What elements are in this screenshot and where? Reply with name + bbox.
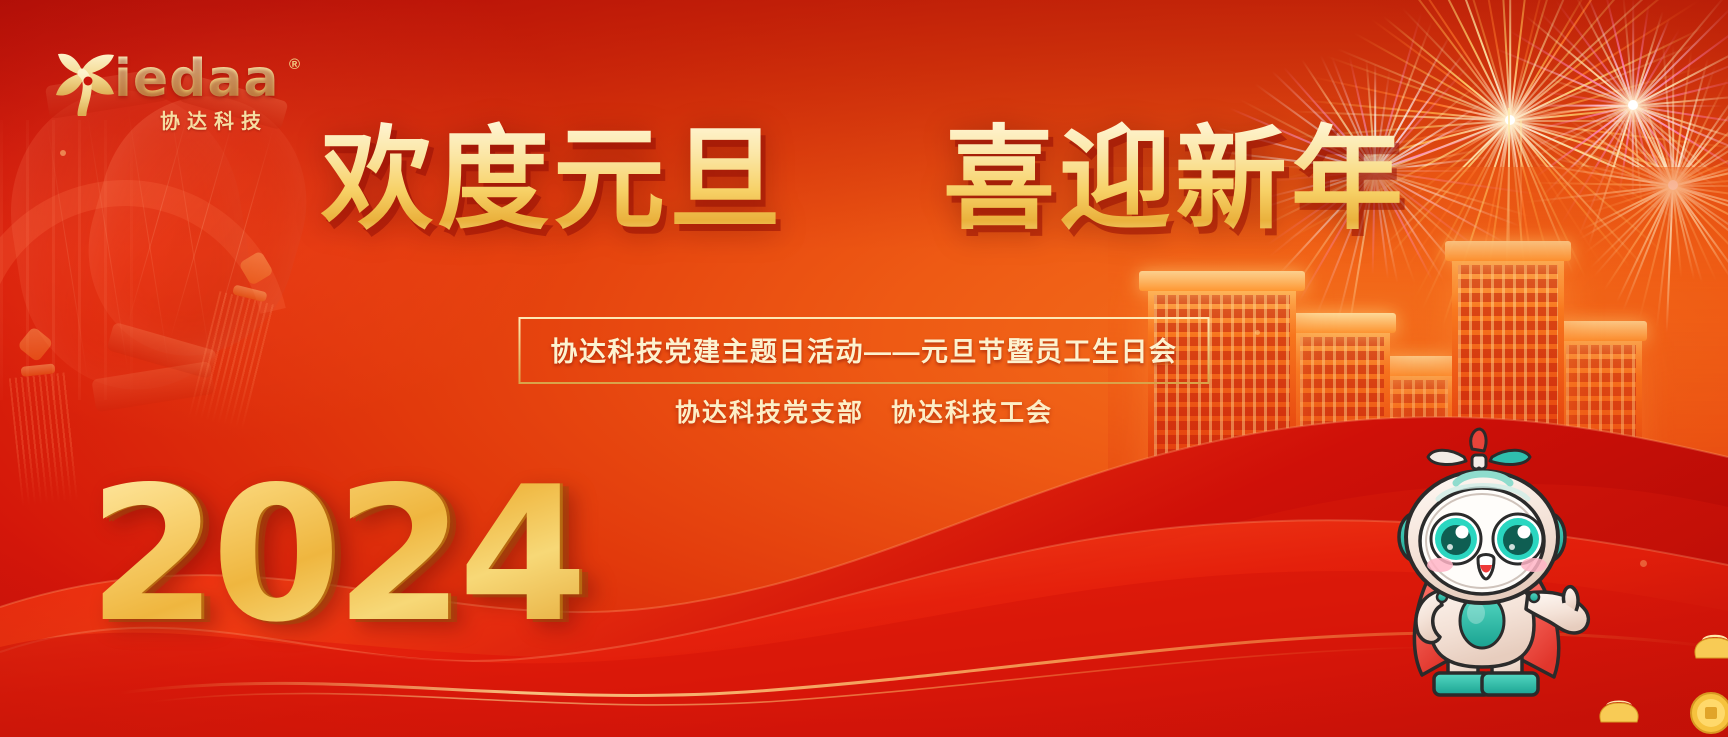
- sparkle-icon: [1255, 330, 1260, 335]
- headline-segment-2: 喜迎新年: [943, 118, 1407, 243]
- year-number: 2024: [88, 462, 582, 648]
- organizer-line: 协达科技党支部 协达科技工会: [0, 393, 1728, 429]
- subtitle-box: 协达科技党建主题日活动——元旦节暨员工生日会: [519, 317, 1210, 384]
- logo-wordmark: iedaa: [114, 53, 280, 105]
- company-logo: iedaa ® 协达科技: [52, 50, 302, 128]
- sparkle-icon: [1640, 560, 1647, 567]
- gold-ingot-icon: [1594, 694, 1644, 728]
- sparkle-icon: [60, 150, 66, 156]
- subtitle-text: 协达科技党建主题日活动——元旦节暨员工生日会: [551, 337, 1178, 367]
- gold-coin-icon: [1688, 690, 1728, 736]
- gold-ingot-icon: [1688, 628, 1728, 664]
- page-title: 欢度元旦 喜迎新年: [0, 118, 1728, 243]
- headline-segment-1: 欢度元旦: [321, 118, 785, 243]
- robot-mascot-icon: [1368, 425, 1618, 737]
- new-year-banner: iedaa ® 协达科技 欢度元旦 喜迎新年 协达科技党建主题日活动——元旦节暨…: [0, 0, 1728, 737]
- registered-trademark-icon: ®: [289, 56, 300, 73]
